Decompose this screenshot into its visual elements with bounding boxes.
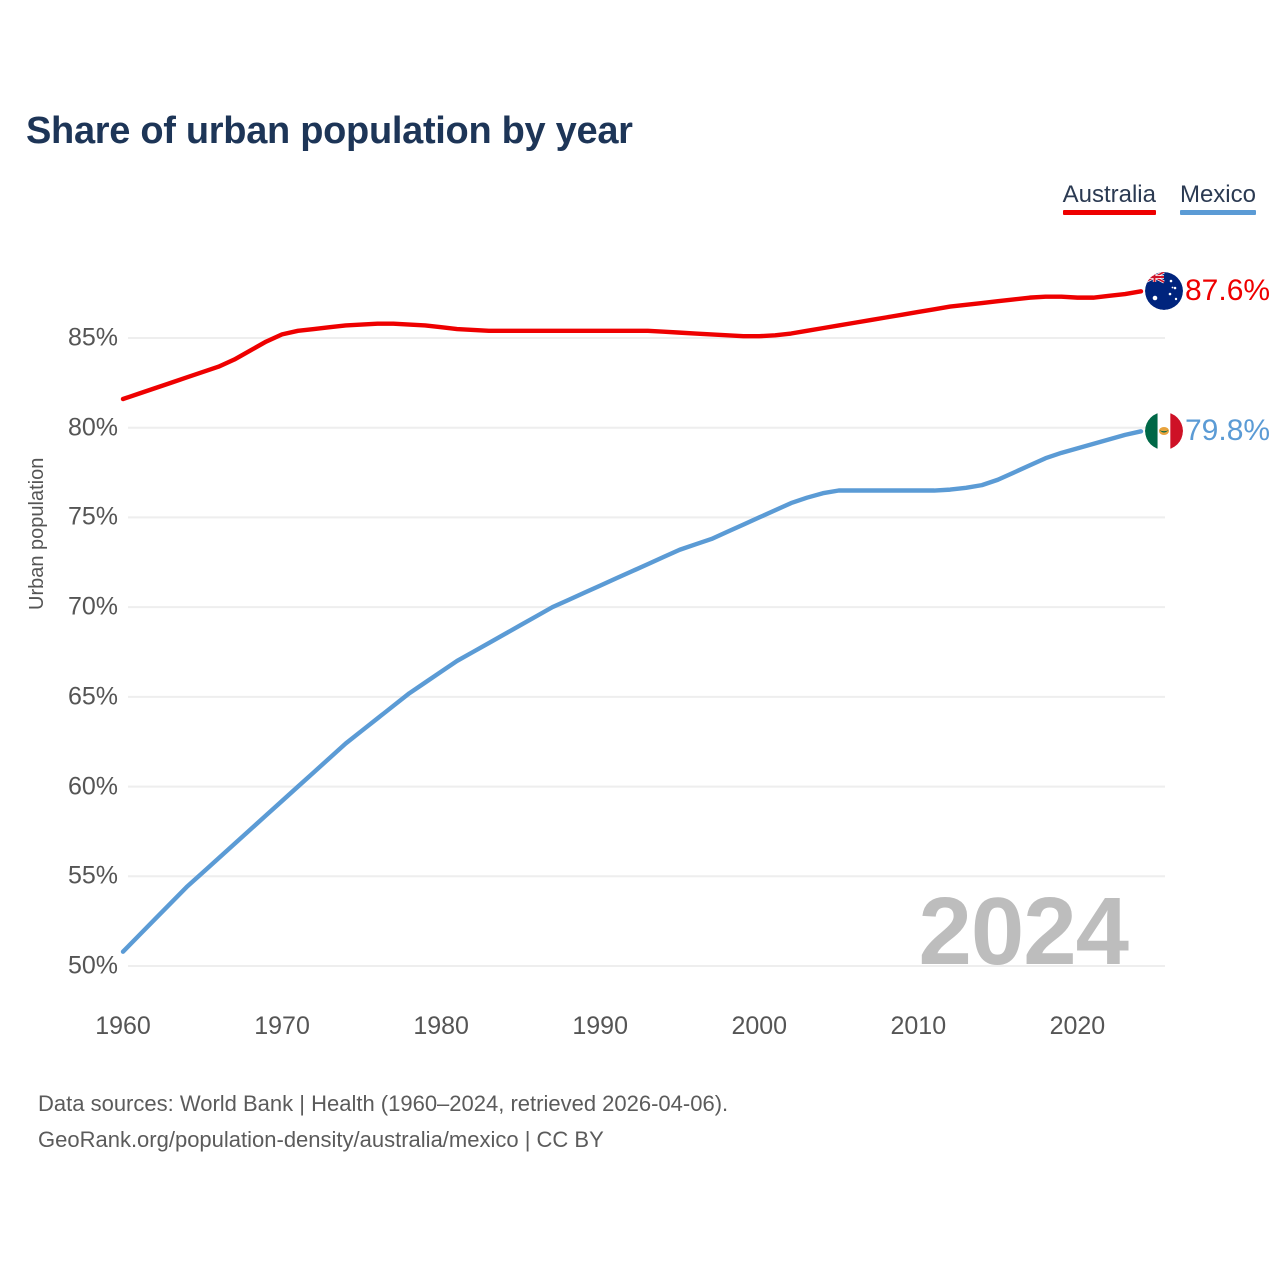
footer-line-1: Data sources: World Bank | Health (1960–…	[38, 1086, 728, 1122]
chart-series-lines	[123, 291, 1141, 951]
legend-swatch-mexico	[1180, 210, 1256, 215]
mexico-end-value: 79.8%	[1185, 416, 1270, 446]
y-tick-85: 85%	[0, 324, 118, 353]
y-tick-80: 80%	[0, 413, 118, 442]
australia-flag-icon	[1145, 272, 1183, 310]
australia-end-value: 87.6%	[1185, 276, 1270, 306]
legend-swatch-australia	[1063, 210, 1156, 215]
chart-page: Share of urban population by year Austra…	[0, 0, 1280, 1280]
footer-sources: Data sources: World Bank | Health (1960–…	[38, 1086, 728, 1159]
x-tick-1960: 1960	[95, 1012, 151, 1041]
chart-legend: Australia Mexico	[1063, 182, 1256, 215]
series-line-australia	[123, 291, 1141, 399]
x-tick-2000: 2000	[731, 1012, 787, 1041]
y-tick-50: 50%	[0, 952, 118, 981]
page-title: Share of urban population by year	[26, 110, 633, 153]
y-tick-65: 65%	[0, 682, 118, 711]
year-watermark: 2024	[918, 884, 1128, 980]
x-tick-1970: 1970	[254, 1012, 310, 1041]
x-tick-2020: 2020	[1050, 1012, 1106, 1041]
y-tick-55: 55%	[0, 862, 118, 891]
chart-gridlines	[128, 338, 1165, 966]
y-tick-70: 70%	[0, 593, 118, 622]
series-line-mexico	[123, 431, 1141, 951]
x-tick-2010: 2010	[891, 1012, 947, 1041]
y-tick-75: 75%	[0, 503, 118, 532]
mexico-flag-icon	[1145, 412, 1183, 450]
mexico-endpoint[interactable]: 79.8%	[1145, 412, 1270, 450]
legend-item-mexico[interactable]: Mexico	[1180, 182, 1256, 215]
y-tick-60: 60%	[0, 772, 118, 801]
footer-line-2: GeoRank.org/population-density/australia…	[38, 1122, 728, 1158]
x-tick-1990: 1990	[572, 1012, 628, 1041]
australia-endpoint[interactable]: 87.6%	[1145, 272, 1270, 310]
x-tick-1980: 1980	[413, 1012, 469, 1041]
y-axis-label: Urban population	[26, 458, 49, 610]
legend-item-australia[interactable]: Australia	[1063, 182, 1156, 215]
legend-label-mexico: Mexico	[1180, 182, 1256, 207]
legend-label-australia: Australia	[1063, 182, 1156, 207]
